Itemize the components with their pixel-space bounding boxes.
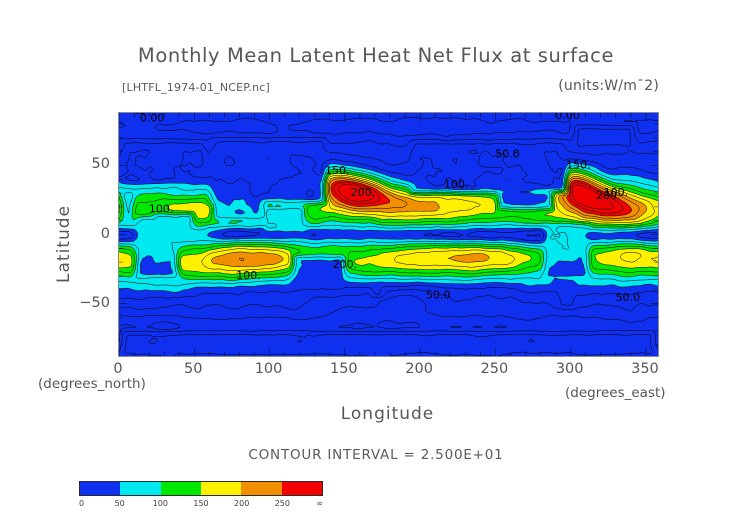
y-tick-50: 50	[92, 156, 110, 172]
contour-label-13: 200.	[351, 186, 375, 199]
y-axis-units: (degrees_north)	[38, 376, 146, 392]
latent-heat-flux-map: 0.000.00100.100.100.150.150.200.200.50.0…	[119, 113, 658, 356]
contour-label-7: 200.	[596, 189, 620, 202]
x-tick-300: 300	[556, 361, 584, 377]
contour-label-10: 50.0	[616, 291, 640, 304]
contour-label-8: 200.	[333, 258, 357, 271]
y-tick-0: 0	[101, 226, 110, 242]
colorbar-tick-5: 250	[275, 499, 290, 508]
map-plot-area: 0.000.00100.100.100.150.150.200.200.50.0…	[118, 112, 659, 357]
colorbar-segment-2	[161, 482, 201, 495]
colorbar-tick-6: ∞	[316, 499, 323, 508]
contour-interval-label: CONTOUR INTERVAL = 2.500E+01	[0, 447, 752, 463]
contour-label-9: 50.0	[426, 288, 450, 301]
x-tick-200: 200	[405, 361, 433, 377]
x-tick-50: 50	[184, 361, 202, 377]
colorbar-tick-2: 100	[153, 499, 168, 508]
colorbar-segment-3	[201, 482, 241, 495]
colorbar	[79, 481, 323, 496]
x-tick-350: 350	[631, 361, 659, 377]
contour-label-11: 100.	[236, 269, 260, 282]
x-axis-title: Longitude	[118, 404, 657, 424]
colorbar-tick-labels: 050100150200250∞	[79, 499, 323, 511]
contour-label-12: 50.0	[495, 147, 519, 160]
contour-label-2: 100.	[149, 203, 173, 216]
page-title: Monthly Mean Latent Heat Net Flux at sur…	[0, 44, 752, 67]
source-file-label: [LHTFL_1974-01_NCEP.nc]	[122, 81, 270, 94]
colorbar-tick-1: 50	[115, 499, 125, 508]
colorbar-tick-0: 0	[79, 499, 84, 508]
contour-label-6: 150.	[566, 158, 590, 171]
x-tick-0: 0	[113, 361, 122, 377]
contour-label-0: 0.00	[140, 113, 164, 125]
contour-label-3: 100.	[444, 178, 468, 191]
y-axis-title: Latitude	[54, 174, 74, 314]
y-tick--50: −50	[79, 295, 110, 311]
colorbar-segment-1	[120, 482, 160, 495]
colorbar-segment-5	[282, 482, 322, 495]
contour-label-5: 150.	[325, 164, 349, 177]
colorbar-segment-4	[241, 482, 281, 495]
x-axis-units: (degrees_east)	[565, 385, 666, 401]
x-tick-250: 250	[481, 361, 509, 377]
colorbar-segment-0	[80, 482, 120, 495]
contour-label-1: 0.00	[555, 113, 579, 122]
x-tick-150: 150	[330, 361, 358, 377]
x-tick-100: 100	[255, 361, 283, 377]
colorbar-tick-4: 200	[234, 499, 249, 508]
colorbar-tick-3: 150	[193, 499, 208, 508]
units-label: (units:W/m¯2)	[558, 78, 659, 94]
